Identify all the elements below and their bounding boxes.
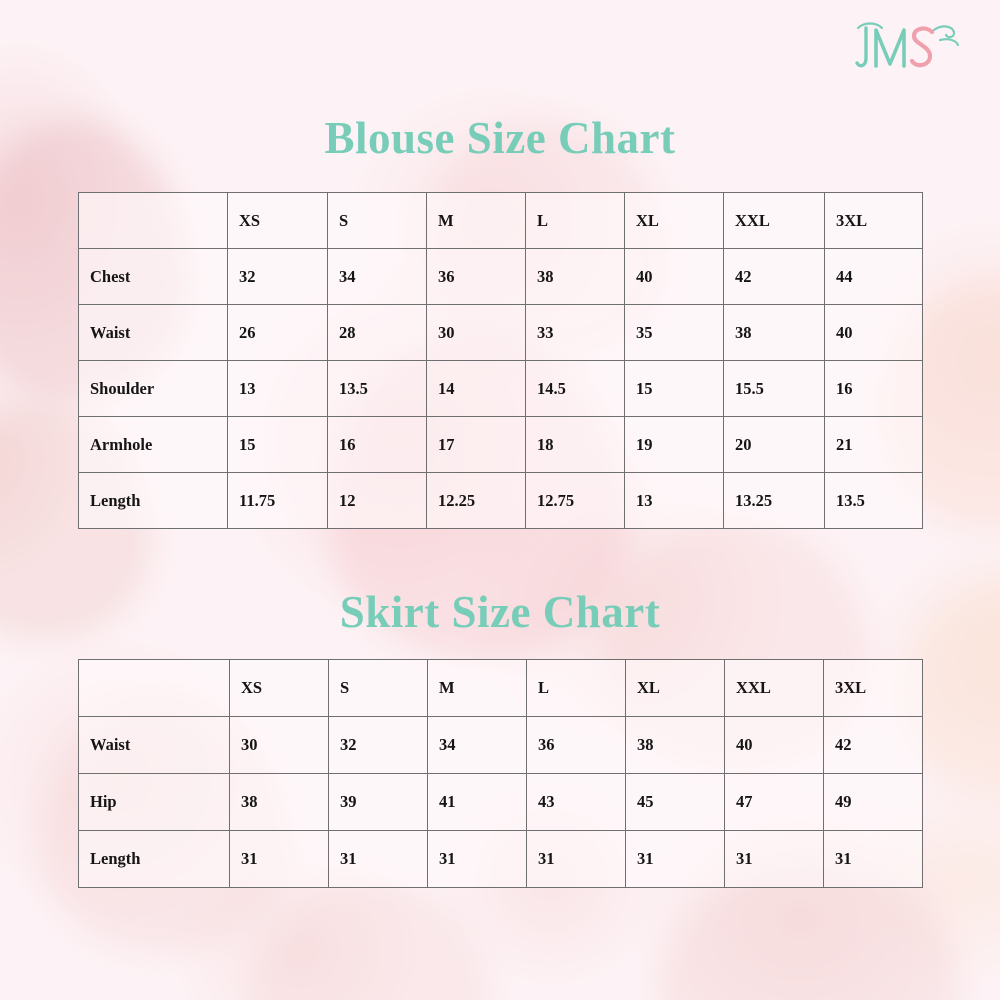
blouse-cell: 14.5	[526, 361, 625, 417]
blouse-cell: 36	[427, 249, 526, 305]
blouse-cell: 33	[526, 305, 625, 361]
blouse-cell: 19	[625, 417, 724, 473]
blouse-size-header-s: S	[328, 193, 427, 249]
skirt-cell: 43	[527, 774, 626, 831]
skirt-size-header-xxl: XXL	[725, 660, 824, 717]
blouse-cell: 13	[228, 361, 328, 417]
table-row: Armhole 15 16 17 18 19 20 21	[79, 417, 923, 473]
logo-letter-m-icon	[857, 28, 866, 66]
table-row: Hip 38 39 41 43 45 47 49	[79, 774, 923, 831]
blouse-corner-cell	[79, 193, 228, 249]
blouse-cell: 21	[825, 417, 923, 473]
skirt-cell: 32	[329, 717, 428, 774]
logo-letter-m-icon	[876, 30, 904, 66]
skirt-size-header-xs: XS	[230, 660, 329, 717]
table-row: Waist 26 28 30 33 35 38 40	[79, 305, 923, 361]
blouse-row-label: Waist	[79, 305, 228, 361]
skirt-cell: 31	[626, 831, 725, 888]
skirt-cell: 34	[428, 717, 527, 774]
skirt-size-header-l: L	[527, 660, 626, 717]
blouse-cell: 14	[427, 361, 526, 417]
skirt-cell: 39	[329, 774, 428, 831]
logo-flourish-icon	[858, 24, 882, 29]
blouse-size-header-l: L	[526, 193, 625, 249]
blouse-size-table: XS S M L XL XXL 3XL Chest 32 34 36 38 40…	[78, 192, 923, 529]
skirt-cell: 31	[824, 831, 923, 888]
blouse-cell: 42	[724, 249, 825, 305]
skirt-size-header-3xl: 3XL	[824, 660, 923, 717]
skirt-cell: 47	[725, 774, 824, 831]
skirt-size-header-s: S	[329, 660, 428, 717]
skirt-cell: 40	[725, 717, 824, 774]
blouse-cell: 17	[427, 417, 526, 473]
blouse-cell: 44	[825, 249, 923, 305]
skirt-cell: 42	[824, 717, 923, 774]
blouse-cell: 13.5	[825, 473, 923, 529]
skirt-cell: 31	[428, 831, 527, 888]
blouse-row-label: Armhole	[79, 417, 228, 473]
blouse-chart-title: Blouse Size Chart	[0, 116, 1000, 161]
blouse-cell: 32	[228, 249, 328, 305]
table-header-row: XS S M L XL XXL 3XL	[79, 660, 923, 717]
skirt-size-header-m: M	[428, 660, 527, 717]
skirt-row-label: Hip	[79, 774, 230, 831]
blouse-size-header-xs: XS	[228, 193, 328, 249]
skirt-cell: 38	[230, 774, 329, 831]
blouse-size-header-m: M	[427, 193, 526, 249]
blouse-cell: 11.75	[228, 473, 328, 529]
table-row: Waist 30 32 34 36 38 40 42	[79, 717, 923, 774]
skirt-row-label: Waist	[79, 717, 230, 774]
blouse-row-label: Chest	[79, 249, 228, 305]
blouse-cell: 28	[328, 305, 427, 361]
size-chart-page: Blouse Size Chart XS S M L XL XXL 3XL Ch…	[0, 0, 1000, 1000]
skirt-cell: 38	[626, 717, 725, 774]
blouse-size-header-xxl: XXL	[724, 193, 825, 249]
blouse-cell: 38	[526, 249, 625, 305]
skirt-row-label: Length	[79, 831, 230, 888]
skirt-cell: 31	[230, 831, 329, 888]
table-row: Length 31 31 31 31 31 31 31	[79, 831, 923, 888]
blouse-cell: 26	[228, 305, 328, 361]
blouse-cell: 40	[825, 305, 923, 361]
logo-flourish-icon	[940, 39, 958, 45]
blouse-cell: 18	[526, 417, 625, 473]
blouse-cell: 15	[625, 361, 724, 417]
blouse-cell: 30	[427, 305, 526, 361]
skirt-size-table: XS S M L XL XXL 3XL Waist 30 32 34 36 38…	[78, 659, 923, 888]
blouse-row-label: Shoulder	[79, 361, 228, 417]
table-header-row: XS S M L XL XXL 3XL	[79, 193, 923, 249]
blouse-cell: 12.75	[526, 473, 625, 529]
blouse-cell: 12.25	[427, 473, 526, 529]
skirt-cell: 31	[725, 831, 824, 888]
blouse-row-label: Length	[79, 473, 228, 529]
blouse-cell: 20	[724, 417, 825, 473]
skirt-corner-cell	[79, 660, 230, 717]
table-row: Shoulder 13 13.5 14 14.5 15 15.5 16	[79, 361, 923, 417]
blouse-cell: 13.25	[724, 473, 825, 529]
brand-logo	[852, 14, 962, 80]
blouse-cell: 16	[825, 361, 923, 417]
blouse-cell: 13.5	[328, 361, 427, 417]
skirt-cell: 49	[824, 774, 923, 831]
skirt-cell: 41	[428, 774, 527, 831]
blouse-cell: 12	[328, 473, 427, 529]
blouse-cell: 16	[328, 417, 427, 473]
blouse-cell: 15	[228, 417, 328, 473]
blouse-cell: 40	[625, 249, 724, 305]
blouse-size-header-xl: XL	[625, 193, 724, 249]
blouse-cell: 34	[328, 249, 427, 305]
logo-letter-s-icon	[912, 29, 932, 66]
skirt-size-header-xl: XL	[626, 660, 725, 717]
logo-flourish-icon	[934, 26, 954, 37]
skirt-cell: 31	[329, 831, 428, 888]
skirt-cell: 30	[230, 717, 329, 774]
skirt-chart-title: Skirt Size Chart	[0, 590, 1000, 635]
skirt-cell: 45	[626, 774, 725, 831]
skirt-cell: 36	[527, 717, 626, 774]
blouse-size-header-3xl: 3XL	[825, 193, 923, 249]
skirt-cell: 31	[527, 831, 626, 888]
table-row: Length 11.75 12 12.25 12.75 13 13.25 13.…	[79, 473, 923, 529]
blouse-cell: 38	[724, 305, 825, 361]
blouse-cell: 13	[625, 473, 724, 529]
table-row: Chest 32 34 36 38 40 42 44	[79, 249, 923, 305]
blouse-cell: 35	[625, 305, 724, 361]
blouse-cell: 15.5	[724, 361, 825, 417]
